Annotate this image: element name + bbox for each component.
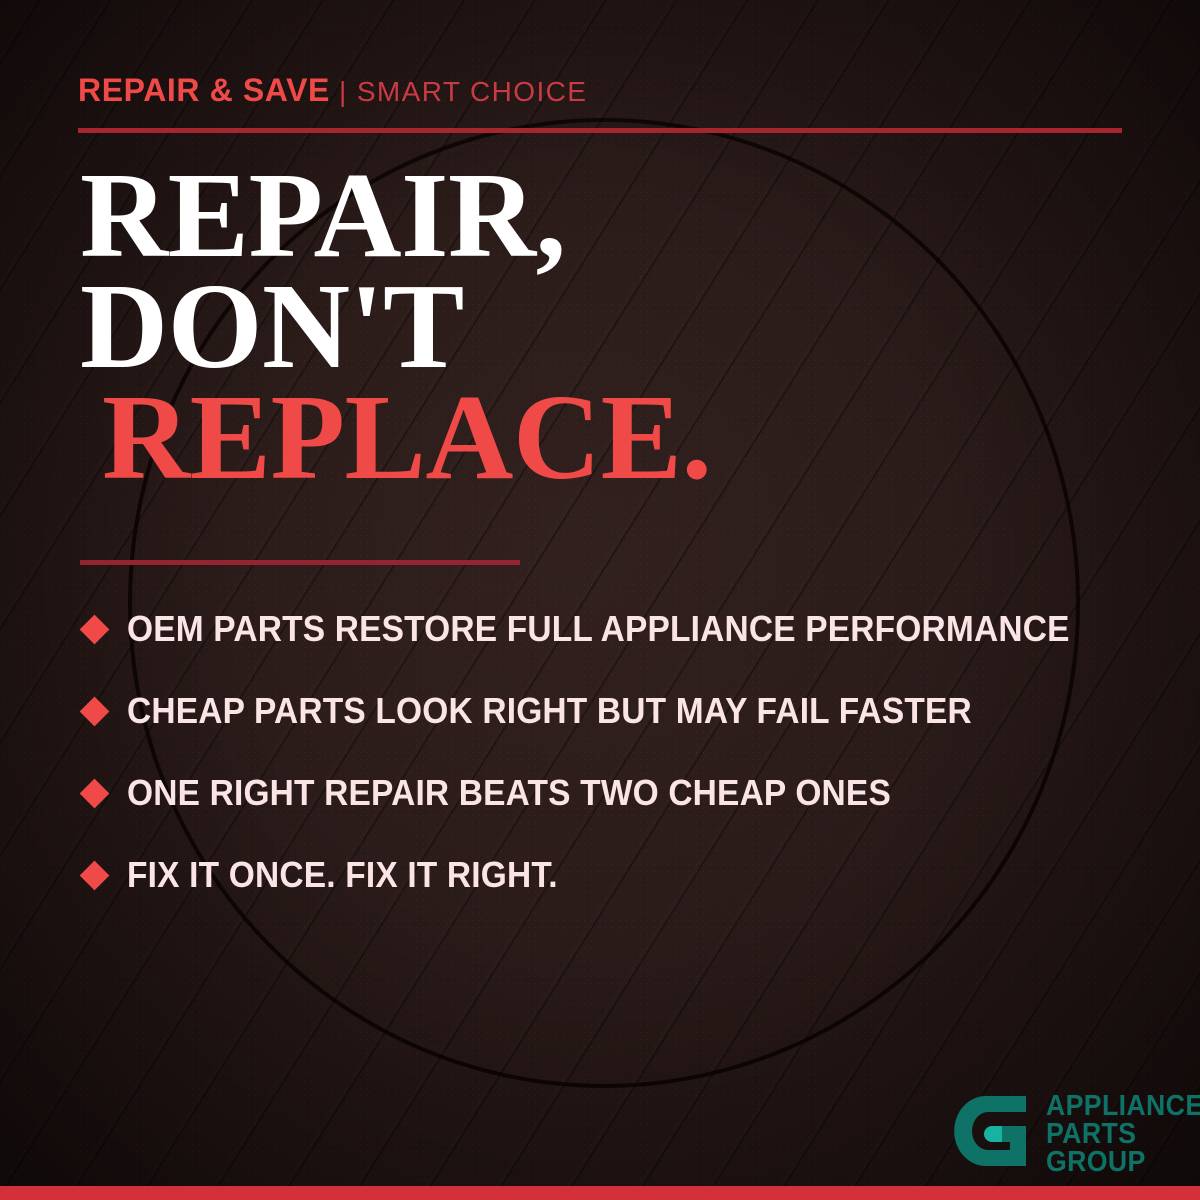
diamond-icon (80, 778, 110, 808)
logo-line-2: PARTS (1046, 1120, 1200, 1148)
diamond-icon (80, 860, 110, 890)
benefits-list: OEM PARTS RESTORE FULL APPLIANCE PERFORM… (80, 588, 1160, 916)
list-item-label: CHEAP PARTS LOOK RIGHT BUT MAY FAIL FAST… (127, 690, 972, 732)
brand-logo: APPLIANCE PARTS GROUP (952, 1090, 1200, 1176)
list-item: ONE RIGHT REPAIR BEATS TWO CHEAP ONES (80, 752, 1160, 834)
brand-logo-wordmark: APPLIANCE PARTS GROUP (1046, 1090, 1200, 1176)
g-monogram-icon (952, 1090, 1034, 1172)
poster-canvas: REPAIR & SAVE| SMART CHOICE REPAIR, DON'… (0, 0, 1200, 1200)
list-item: FIX IT ONCE. FIX IT RIGHT. (80, 834, 1160, 916)
footer-accent-bar (0, 1186, 1200, 1200)
list-item-label: OEM PARTS RESTORE FULL APPLIANCE PERFORM… (127, 608, 1070, 650)
list-item-label: FIX IT ONCE. FIX IT RIGHT. (127, 854, 558, 896)
headline-line-1: REPAIR, (80, 160, 1130, 271)
diamond-icon (80, 696, 110, 726)
list-item-label: ONE RIGHT REPAIR BEATS TWO CHEAP ONES (127, 772, 891, 814)
list-item: CHEAP PARTS LOOK RIGHT BUT MAY FAIL FAST… (80, 670, 1160, 752)
kicker-sub-label: | SMART CHOICE (339, 76, 587, 107)
headline-line-3-accent: REPLACE. (102, 382, 1130, 493)
logo-line-1: APPLIANCE (1046, 1092, 1200, 1120)
section-divider-rule (80, 560, 520, 565)
logo-line-3: GROUP (1046, 1148, 1200, 1176)
page-title: REPAIR, DON'T REPLACE. (80, 160, 1130, 493)
diamond-icon (80, 614, 110, 644)
poster-content: REPAIR & SAVE| SMART CHOICE REPAIR, DON'… (0, 0, 1200, 1200)
list-item: OEM PARTS RESTORE FULL APPLIANCE PERFORM… (80, 588, 1160, 670)
kicker-main-label: REPAIR & SAVE (78, 72, 330, 108)
header-divider-rule (78, 128, 1122, 133)
headline-line-2: DON'T (80, 271, 1130, 382)
kicker: REPAIR & SAVE| SMART CHOICE (78, 74, 587, 106)
